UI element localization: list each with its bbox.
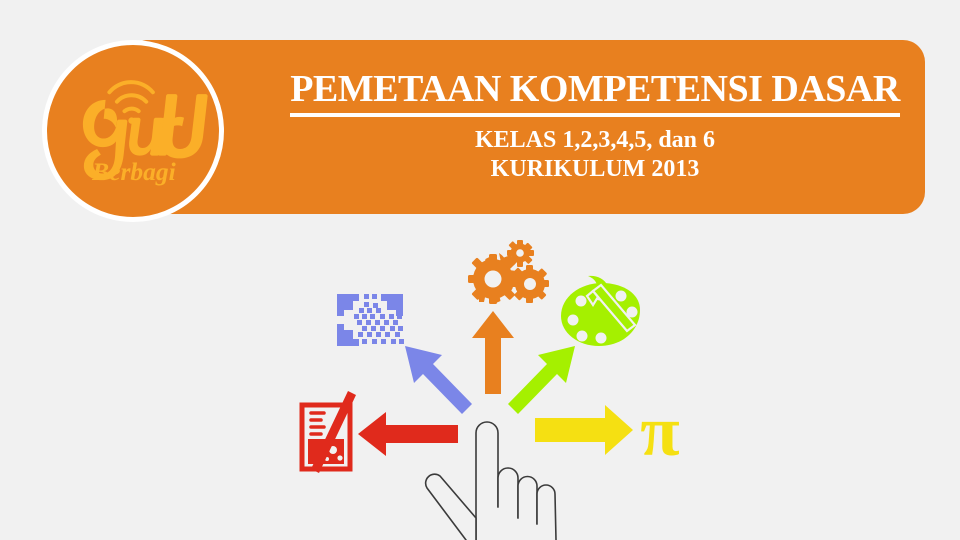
svg-text:Berbagi: Berbagi bbox=[91, 157, 176, 186]
arrow-upleft bbox=[405, 346, 472, 414]
pi-symbol-icon: π bbox=[640, 391, 679, 471]
logo-subwordmark: Berbagi bbox=[91, 157, 176, 186]
svg-text:π: π bbox=[640, 391, 679, 471]
subtitle-line-2: KURIKULUM 2013 bbox=[491, 155, 700, 184]
qr-code-icon bbox=[337, 294, 404, 346]
center-graphic: π bbox=[290, 228, 690, 540]
logo-svg: Berbagi bbox=[47, 45, 219, 217]
beaker-icon bbox=[302, 391, 356, 473]
slide-canvas: PEMETAAN KOMPETENSI DASAR KELAS 1,2,3,4,… bbox=[0, 0, 960, 540]
icon-label-gears: Gears bbox=[0, 0, 1, 1]
arrow-right bbox=[535, 405, 633, 455]
icon-label-list: Gears QR Code Art Palette Lab Beaker Pi … bbox=[0, 0, 1, 1]
subtitle-line-1: KELAS 1,2,3,4,5, dan 6 bbox=[475, 126, 715, 155]
arrow-upright bbox=[508, 346, 575, 414]
page-title: PEMETAAN KOMPETENSI DASAR bbox=[290, 70, 900, 117]
logo-badge: Berbagi bbox=[42, 40, 224, 222]
arrow-left bbox=[358, 412, 458, 456]
palette-icon bbox=[561, 276, 640, 346]
gears-icon bbox=[468, 240, 549, 304]
arrow-up bbox=[472, 311, 514, 394]
header-text-block: PEMETAAN KOMPETENSI DASAR KELAS 1,2,3,4,… bbox=[230, 40, 920, 214]
